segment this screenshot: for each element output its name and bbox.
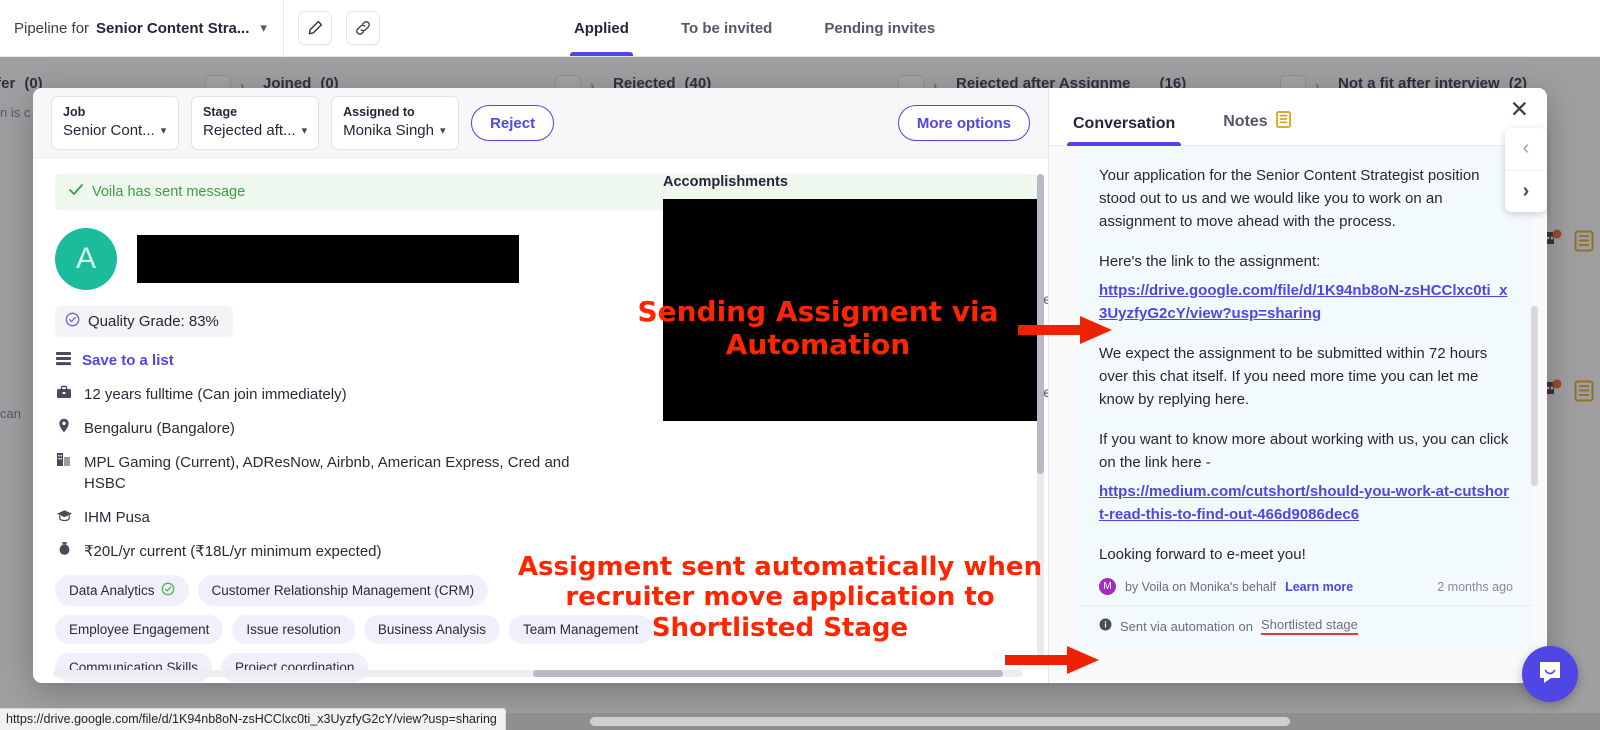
check-icon: [69, 184, 83, 200]
message-author-line: by Voila on Monika's behalf: [1125, 580, 1276, 594]
candidate-nav-arrows: ‹ ›: [1505, 128, 1547, 212]
meta-education-text: IHM Pusa: [84, 507, 150, 528]
skill-chip[interactable]: Issue resolution: [232, 615, 355, 644]
graduation-cap-icon: [55, 507, 73, 528]
automation-note: Sent via automation on Shortlisted stage: [1079, 605, 1533, 649]
candidate-name-redacted: [137, 235, 519, 283]
skill-chip-label: Issue resolution: [246, 622, 341, 637]
tab-to-be-invited[interactable]: To be invited: [677, 0, 776, 56]
message-paragraph-4: If you want to know more about working w…: [1099, 428, 1513, 474]
meta-row-experience: 12 years fulltime (Can join immediately): [55, 384, 615, 405]
annotation-sending-assignment: Sending Assigment via Automation: [630, 296, 1006, 362]
skill-chip-label: Data Analytics: [69, 583, 155, 598]
medium-article-link[interactable]: https://medium.com/cutshort/should-you-w…: [1099, 483, 1509, 523]
message-paragraph-1: Your application for the Senior Content …: [1099, 164, 1513, 233]
skill-chip[interactable]: Business Analysis: [364, 615, 500, 644]
skill-chip-label: Business Analysis: [378, 622, 486, 637]
chevron-down-icon[interactable]: ▾: [260, 20, 267, 36]
chevron-down-icon[interactable]: ▾: [161, 124, 167, 137]
stage-select-label: Stage: [203, 105, 307, 119]
skill-chip[interactable]: Employee Engagement: [55, 615, 223, 644]
skill-chip[interactable]: Data Analytics: [55, 575, 189, 606]
info-icon: [1099, 618, 1112, 634]
header-divider: [283, 0, 284, 57]
building-icon: [55, 452, 73, 494]
notes-icon: [1276, 111, 1291, 133]
save-to-list-label: Save to a list: [82, 352, 174, 369]
tab-conversation[interactable]: Conversation: [1067, 115, 1181, 145]
stage-select[interactable]: Stage Rejected aft... ▾: [191, 96, 319, 150]
meta-salary-text: ₹20L/yr current (₹18L/yr minimum expecte…: [84, 541, 382, 562]
assigned-to-value-row: Monika Singh ▾: [343, 122, 447, 139]
prev-candidate-button[interactable]: ‹: [1505, 128, 1547, 170]
accomplishments-title: Accomplishments: [663, 174, 1043, 190]
copy-link-button[interactable]: [346, 11, 380, 45]
message-footer: M by Voila on Monika's behalf Learn more…: [1099, 574, 1513, 595]
meta-row-location: Bengaluru (Bangalore): [55, 418, 615, 439]
header-tabs: Applied To be invited Pending invites: [570, 0, 939, 56]
stage-select-value-row: Rejected aft... ▾: [203, 122, 307, 139]
automation-note-prefix: Sent via automation on: [1120, 619, 1253, 634]
profile-horizontal-scrollbar[interactable]: [53, 670, 1023, 677]
tab-notes-label: Notes: [1223, 113, 1267, 131]
quality-grade-badge: Quality Grade: 83%: [55, 306, 233, 337]
tab-applied[interactable]: Applied: [570, 0, 633, 56]
intercom-chat-button[interactable]: [1522, 646, 1578, 702]
more-options-button[interactable]: More options: [898, 105, 1030, 141]
briefcase-icon: [55, 384, 73, 405]
meta-location-text: Bengaluru (Bangalore): [84, 418, 235, 439]
scrollbar-thumb[interactable]: [590, 717, 1290, 726]
conversation-scrollbar[interactable]: [1531, 306, 1538, 486]
money-bag-icon: [55, 541, 73, 562]
pipeline-title: Senior Content Stra...: [96, 20, 249, 37]
scrollbar-thumb[interactable]: [533, 670, 1003, 677]
list-icon: [55, 351, 72, 370]
skill-chip-label: Customer Relationship Management (CRM): [212, 583, 475, 598]
meta-row-education: IHM Pusa: [55, 507, 615, 528]
assigned-to-select[interactable]: Assigned to Monika Singh ▾: [331, 96, 459, 150]
message-bubble: Your application for the Senior Content …: [1079, 146, 1533, 605]
tab-conversation-label: Conversation: [1073, 115, 1175, 133]
annotation-assignment-auto: Assigment sent automatically when recrui…: [500, 552, 1060, 643]
annotation-arrow-bottom: [1005, 640, 1101, 680]
status-bar-url: https://drive.google.com/file/d/1K94nb8o…: [0, 708, 506, 730]
job-select-label: Job: [63, 105, 167, 119]
verified-check-icon: [161, 582, 175, 599]
skill-chip-label: Employee Engagement: [69, 622, 209, 637]
conversation-pane: Conversation Notes ✕ Your application fo…: [1048, 88, 1547, 683]
chevron-down-icon[interactable]: ▾: [440, 124, 446, 137]
meta-row-companies: MPL Gaming (Current), ADResNow, Airbnb, …: [55, 452, 615, 494]
annotation-arrow-top: [1018, 310, 1114, 350]
conversation-tabs: Conversation Notes ✕: [1049, 88, 1547, 146]
automation-stage-name: Shortlisted stage: [1261, 617, 1358, 635]
message-paragraph-5: Looking forward to e-meet you!: [1099, 543, 1513, 566]
job-select-value-row: Senior Cont... ▾: [63, 122, 167, 139]
message-paragraph-3: We expect the assignment to be submitted…: [1099, 342, 1513, 411]
skill-chip[interactable]: Project coordination: [221, 653, 368, 682]
message-paragraph-2: Here's the link to the assignment:: [1099, 250, 1513, 273]
top-header-bar: Pipeline for Senior Content Stra... ▾ Ap…: [0, 0, 1600, 57]
skill-chip[interactable]: Communication Skills: [55, 653, 212, 682]
meta-companies-text: MPL Gaming (Current), ADResNow, Airbnb, …: [84, 452, 615, 494]
close-modal-button[interactable]: ✕: [1510, 98, 1529, 121]
verified-badge-icon: [65, 312, 80, 331]
job-select[interactable]: Job Senior Cont... ▾: [51, 96, 179, 150]
reject-button[interactable]: Reject: [471, 105, 554, 141]
link-icon: [355, 20, 371, 36]
avatar: A: [55, 228, 117, 290]
stage-select-value: Rejected aft...: [203, 122, 296, 139]
conversation-body: Your application for the Senior Content …: [1049, 146, 1547, 683]
app-root: offer (0) › Joined (0) › Rejected (40): [0, 0, 1600, 730]
assigned-to-value: Monika Singh: [343, 122, 434, 139]
message-timestamp: 2 months ago: [1437, 580, 1513, 594]
chat-smile-icon: [1536, 658, 1564, 691]
job-select-value: Senior Cont...: [63, 122, 155, 139]
pipeline-breadcrumb[interactable]: Pipeline for Senior Content Stra... ▾: [0, 0, 283, 56]
pipeline-for-label: Pipeline for: [14, 20, 89, 37]
candidate-action-bar: Job Senior Cont... ▾ Stage Rejected aft.…: [33, 88, 1048, 158]
tab-pending-invites[interactable]: Pending invites: [820, 0, 939, 56]
assigned-to-label: Assigned to: [343, 105, 447, 119]
edit-pipeline-button[interactable]: [298, 11, 332, 45]
location-pin-icon: [55, 418, 73, 439]
quality-grade-text: Quality Grade: 83%: [88, 313, 219, 330]
tab-notes[interactable]: Notes: [1217, 111, 1296, 145]
meta-experience-text: 12 years fulltime (Can join immediately): [84, 384, 347, 405]
pencil-icon: [307, 20, 323, 36]
author-avatar: M: [1099, 578, 1116, 595]
next-candidate-button[interactable]: ›: [1505, 170, 1547, 213]
skill-chip[interactable]: Customer Relationship Management (CRM): [198, 575, 489, 606]
chevron-down-icon[interactable]: ▾: [302, 124, 308, 137]
learn-more-link[interactable]: Learn more: [1285, 580, 1353, 594]
assignment-link[interactable]: https://drive.google.com/file/d/1K94nb8o…: [1099, 282, 1507, 322]
sent-message-banner-text: Voila has sent message: [92, 184, 245, 200]
